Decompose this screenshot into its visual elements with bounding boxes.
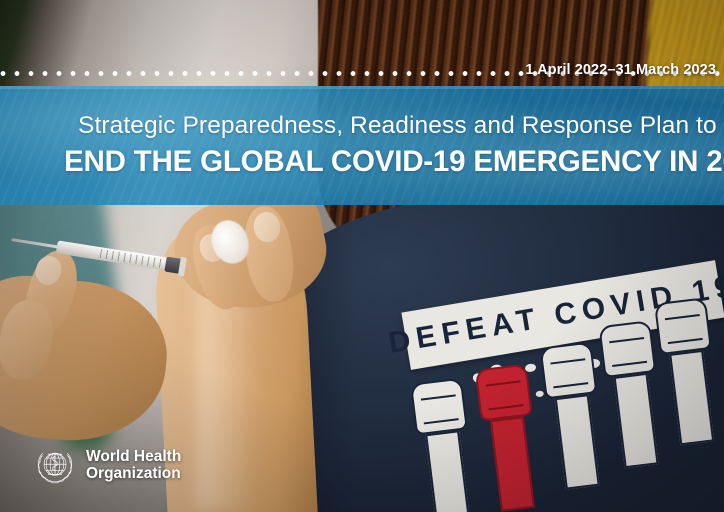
who-wordmark-line-1: World Health: [86, 449, 181, 466]
publication-cover: DEFEAT COVID 19: [0, 0, 724, 512]
who-emblem-icon: [33, 444, 77, 488]
date-range-label: 1 April 2022–31 March 2023: [525, 62, 716, 78]
who-logo: World Health Organization: [33, 444, 181, 488]
main-title-line: END THE GLOBAL COVID-19 EMERGENCY IN 202…: [64, 144, 694, 179]
subtitle-line: Strategic Preparedness, Readiness and Re…: [78, 112, 694, 140]
who-wordmark-line-2: Organization: [86, 466, 181, 483]
title-block: Strategic Preparedness, Readiness and Re…: [0, 86, 724, 205]
who-wordmark: World Health Organization: [86, 449, 181, 482]
title-banner: Strategic Preparedness, Readiness and Re…: [0, 86, 724, 205]
